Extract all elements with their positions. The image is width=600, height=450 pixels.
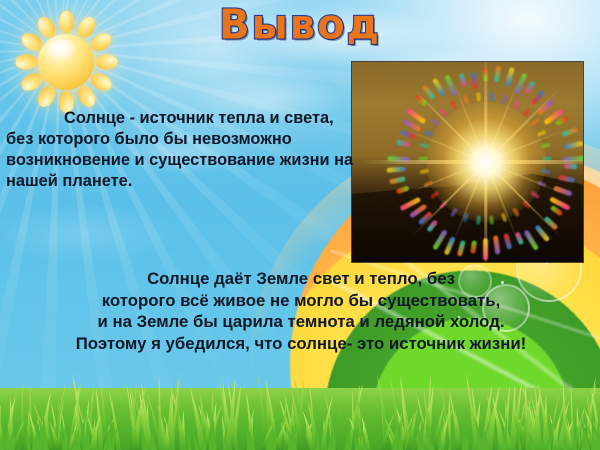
diffraction-dash — [559, 174, 576, 182]
grass-blade — [20, 384, 24, 450]
photo-starburst — [361, 62, 583, 262]
diffraction-dash — [471, 240, 478, 254]
paragraph-line: Солнце даёт Земле свет и тепло, без — [10, 268, 592, 290]
diffraction-dash — [495, 65, 502, 82]
diffraction-dash — [433, 77, 447, 96]
paragraph-line: и на Земле бы царила темнота и ледяной х… — [10, 311, 592, 333]
diffraction-dash — [387, 166, 406, 172]
diffraction-dash — [501, 94, 508, 104]
paragraph-line: которого всё живое не могло бы существов… — [10, 290, 592, 312]
paragraph-line: Поэтому я убедился, что солнце- это исто… — [10, 333, 592, 355]
diffraction-dash — [512, 99, 520, 109]
diffraction-dash — [505, 67, 515, 87]
conclusion-paragraph-top: Солнце - источник тепла и света, без кот… — [6, 108, 354, 192]
conclusion-paragraph-bottom: Солнце даёт Земле свет и тепло, без кото… — [10, 268, 592, 354]
diffraction-dash — [504, 233, 513, 250]
diffraction-dash — [471, 72, 478, 89]
sun-starburst-photo — [352, 62, 583, 262]
diffraction-dash — [459, 73, 467, 87]
grass-blade — [328, 432, 332, 450]
grass-blade — [455, 412, 462, 450]
sun-ray-petal — [95, 55, 117, 70]
slide-canvas: Вывод Солнце - источник тепла и света, б… — [0, 0, 600, 450]
diffraction-dash — [477, 92, 482, 101]
diffraction-dash — [493, 235, 501, 255]
grass-blade — [185, 410, 192, 450]
diffraction-dash — [397, 139, 411, 147]
diffraction-dash — [489, 92, 494, 101]
diffraction-dash — [390, 176, 407, 184]
diffraction-dash — [457, 239, 466, 256]
diffraction-dash — [525, 80, 536, 94]
page-title: Вывод — [0, 2, 600, 49]
grass-blade — [158, 374, 162, 450]
diffraction-dash — [422, 84, 436, 100]
grass-field — [0, 364, 600, 450]
grass-blades-icon — [0, 364, 600, 450]
sun-ray-petal — [15, 55, 37, 70]
diffraction-dash — [564, 163, 577, 169]
diffraction-dash — [564, 140, 583, 149]
diffraction-dash — [463, 94, 470, 104]
diffraction-dash — [450, 99, 458, 109]
star-core-glow — [426, 102, 546, 222]
